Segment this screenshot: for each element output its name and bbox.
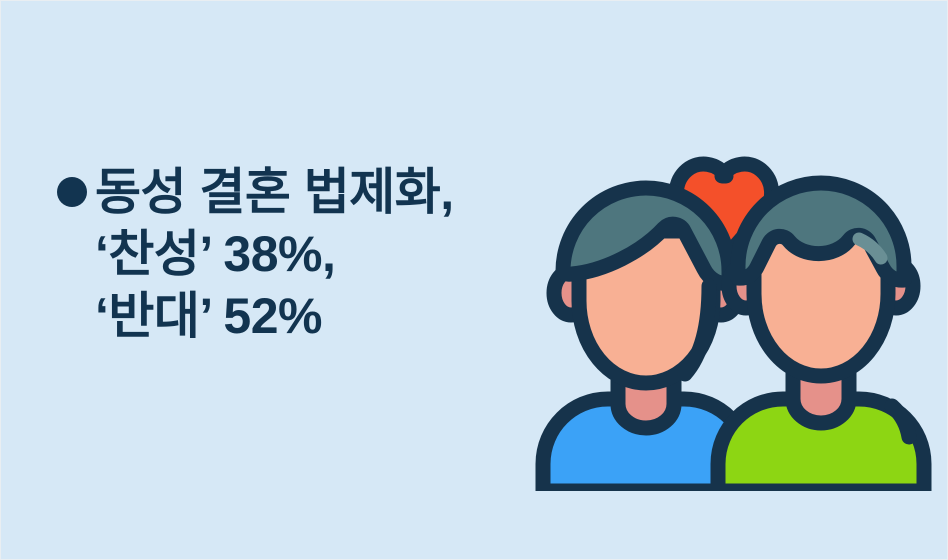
bullet-dot-icon: [57, 177, 87, 207]
headline-line-3: ‘반대’ 52%: [57, 285, 557, 347]
person-right: [718, 183, 924, 491]
headline-line-1-text: 동성 결혼 법제화,: [95, 167, 454, 217]
headline-block: 동성 결혼 법제화, ‘찬성’ 38%, ‘반대’ 52%: [57, 161, 557, 347]
headline-line-1: 동성 결혼 법제화,: [57, 161, 557, 223]
headline-line-2: ‘찬성’ 38%,: [57, 223, 557, 285]
couple-illustration: [521, 71, 941, 491]
couple-illustration-svg: [521, 71, 941, 491]
headline-line-2-text: ‘찬성’ 38%,: [95, 229, 335, 279]
poster-canvas: 동성 결혼 법제화, ‘찬성’ 38%, ‘반대’ 52%: [0, 0, 948, 560]
headline-line-3-text: ‘반대’ 52%: [95, 291, 322, 341]
